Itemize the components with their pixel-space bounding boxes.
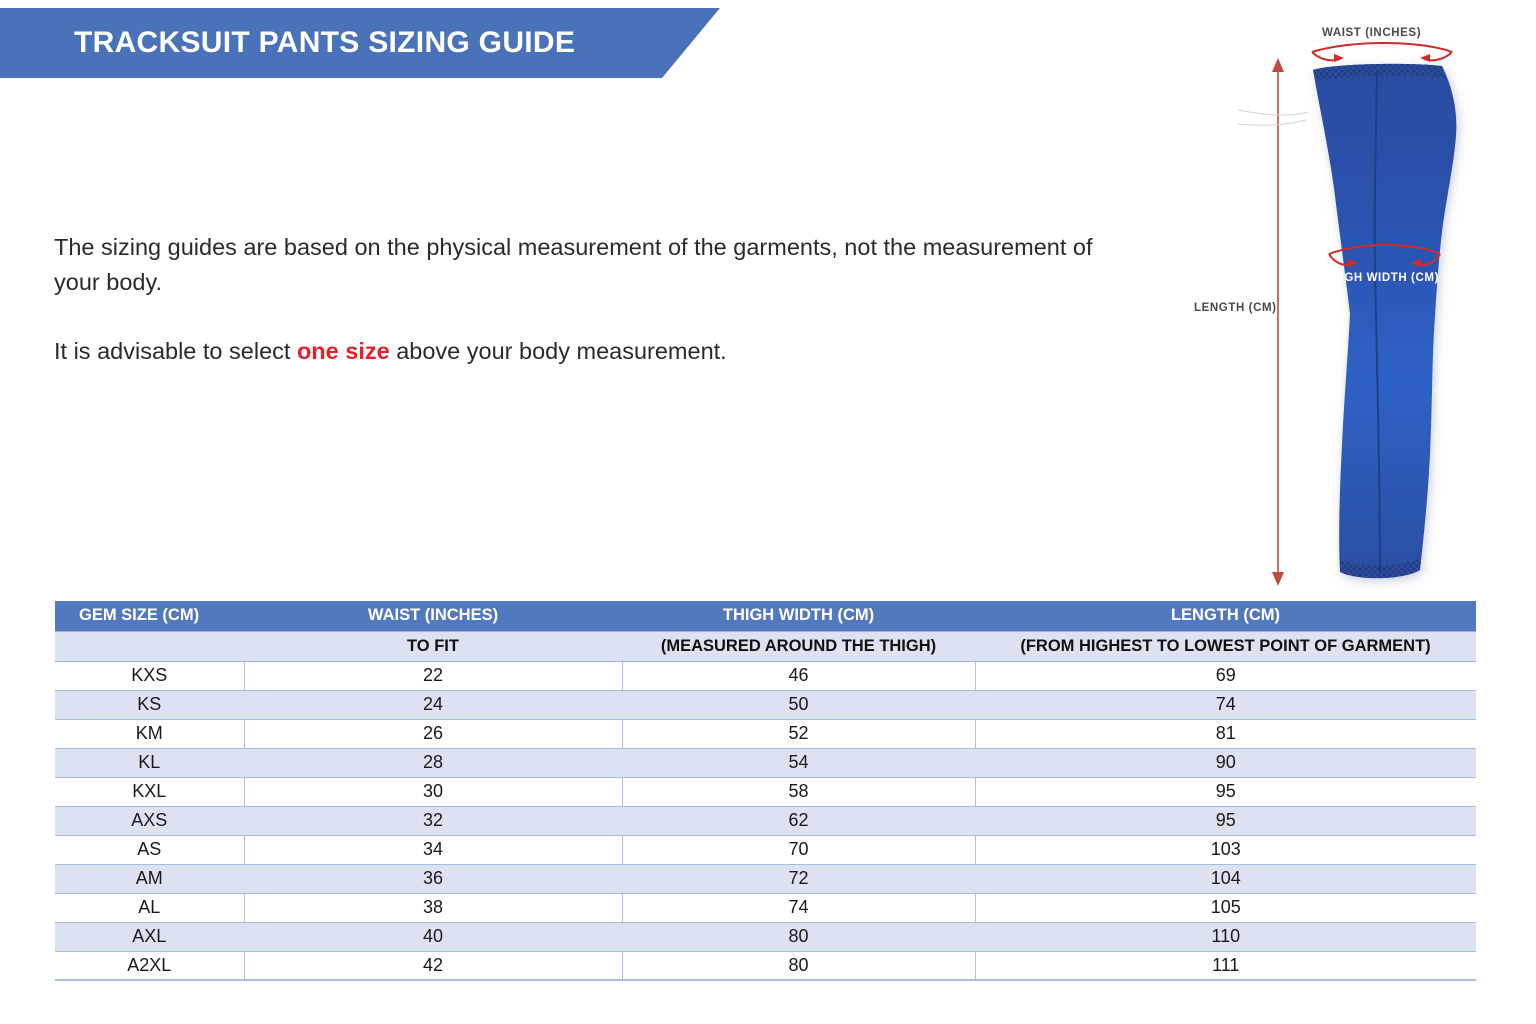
cell-gem-size: KM [55, 719, 244, 748]
table-header-row: GEM SIZE (CM) WAIST (INCHES) THIGH WIDTH… [55, 601, 1476, 631]
cell-length: 111 [975, 951, 1476, 980]
waist-label: WAIST (INCHES) [1322, 27, 1421, 39]
sizing-guide-page: TRACKSUIT PANTS SIZING GUIDE The sizing … [0, 0, 1536, 1024]
table-row: A2XL4280111 [55, 951, 1476, 980]
col-subheader-thigh-width: (MEASURED AROUND THE THIGH) [622, 631, 975, 661]
cell-length: 81 [975, 719, 1476, 748]
cell-gem-size: KXS [55, 661, 244, 690]
intro-paragraph-2-post: above your body measurement. [390, 338, 727, 364]
cell-thigh-width: 72 [622, 864, 975, 893]
cell-waist: 38 [244, 893, 622, 922]
cell-gem-size: KS [55, 690, 244, 719]
table-row: KXS224669 [55, 661, 1476, 690]
table-row: AXL4080110 [55, 922, 1476, 951]
intro-paragraph-2-pre: It is advisable to select [54, 338, 297, 364]
cell-waist: 30 [244, 777, 622, 806]
cell-length: 69 [975, 661, 1476, 690]
cell-waist: 42 [244, 951, 622, 980]
cell-thigh-width: 54 [622, 748, 975, 777]
intro-paragraph-2: It is advisable to select one size above… [54, 334, 1144, 369]
cell-thigh-width: 70 [622, 835, 975, 864]
table-row: KM265281 [55, 719, 1476, 748]
cell-length: 90 [975, 748, 1476, 777]
cell-thigh-width: 74 [622, 893, 975, 922]
col-subheader-gem-size [55, 631, 244, 661]
table-row: AM3672104 [55, 864, 1476, 893]
length-label: LENGTH (CM) [1194, 302, 1277, 314]
cell-thigh-width: 62 [622, 806, 975, 835]
cell-length: 103 [975, 835, 1476, 864]
thigh-width-label: THIGH WIDTH (CM) [1324, 272, 1439, 284]
intro-text-block: The sizing guides are based on the physi… [54, 230, 1144, 369]
cell-waist: 32 [244, 806, 622, 835]
col-header-gem-size: GEM SIZE (CM) [55, 601, 244, 631]
col-header-waist: WAIST (INCHES) [244, 601, 622, 631]
table-row: AXS326295 [55, 806, 1476, 835]
intro-paragraph-1: The sizing guides are based on the physi… [54, 230, 1144, 300]
cell-length: 105 [975, 893, 1476, 922]
one-size-highlight: one size [297, 338, 390, 364]
table-row: AL3874105 [55, 893, 1476, 922]
cell-thigh-width: 52 [622, 719, 975, 748]
cell-waist: 36 [244, 864, 622, 893]
paragraph-spacer [54, 300, 1144, 334]
cell-thigh-width: 58 [622, 777, 975, 806]
cell-length: 104 [975, 864, 1476, 893]
cell-waist: 28 [244, 748, 622, 777]
cell-waist: 26 [244, 719, 622, 748]
guide-lines [1238, 110, 1308, 125]
length-measure-arrow [1272, 58, 1284, 586]
page-title: TRACKSUIT PANTS SIZING GUIDE [74, 26, 575, 60]
cell-gem-size: AXL [55, 922, 244, 951]
cell-thigh-width: 50 [622, 690, 975, 719]
cell-length: 95 [975, 806, 1476, 835]
cell-thigh-width: 80 [622, 951, 975, 980]
cell-gem-size: AL [55, 893, 244, 922]
col-header-thigh-width: THIGH WIDTH (CM) [622, 601, 975, 631]
size-chart-container: GEM SIZE (CM) WAIST (INCHES) THIGH WIDTH… [55, 601, 1476, 981]
table-body: KXS224669KS245074KM265281KL285490KXL3058… [55, 661, 1476, 980]
col-header-length: LENGTH (CM) [975, 601, 1476, 631]
pants-body [1313, 64, 1456, 578]
cell-length: 95 [975, 777, 1476, 806]
table-row: KL285490 [55, 748, 1476, 777]
cell-length: 74 [975, 690, 1476, 719]
title-banner: TRACKSUIT PANTS SIZING GUIDE [0, 8, 720, 78]
cell-waist: 24 [244, 690, 622, 719]
cell-waist: 40 [244, 922, 622, 951]
cell-gem-size: AM [55, 864, 244, 893]
cell-gem-size: AS [55, 835, 244, 864]
table-head: GEM SIZE (CM) WAIST (INCHES) THIGH WIDTH… [55, 601, 1476, 661]
table-row: KXL305895 [55, 777, 1476, 806]
waist-measure-arrow [1312, 43, 1452, 62]
cell-gem-size: AXS [55, 806, 244, 835]
table-row: KS245074 [55, 690, 1476, 719]
col-subheader-length: (FROM HIGHEST TO LOWEST POINT OF GARMENT… [975, 631, 1476, 661]
size-chart-table: GEM SIZE (CM) WAIST (INCHES) THIGH WIDTH… [55, 601, 1476, 981]
cell-length: 110 [975, 922, 1476, 951]
cell-thigh-width: 46 [622, 661, 975, 690]
cell-thigh-width: 80 [622, 922, 975, 951]
pants-illustration: WAIST (INCHES) LENGTH (CM) THIGH WIDTH (… [1180, 14, 1520, 604]
col-subheader-waist: TO FIT [244, 631, 622, 661]
cell-waist: 34 [244, 835, 622, 864]
cell-gem-size: A2XL [55, 951, 244, 980]
table-subheader-row: TO FIT (MEASURED AROUND THE THIGH) (FROM… [55, 631, 1476, 661]
table-row: AS3470103 [55, 835, 1476, 864]
cell-gem-size: KXL [55, 777, 244, 806]
cell-gem-size: KL [55, 748, 244, 777]
cell-waist: 22 [244, 661, 622, 690]
